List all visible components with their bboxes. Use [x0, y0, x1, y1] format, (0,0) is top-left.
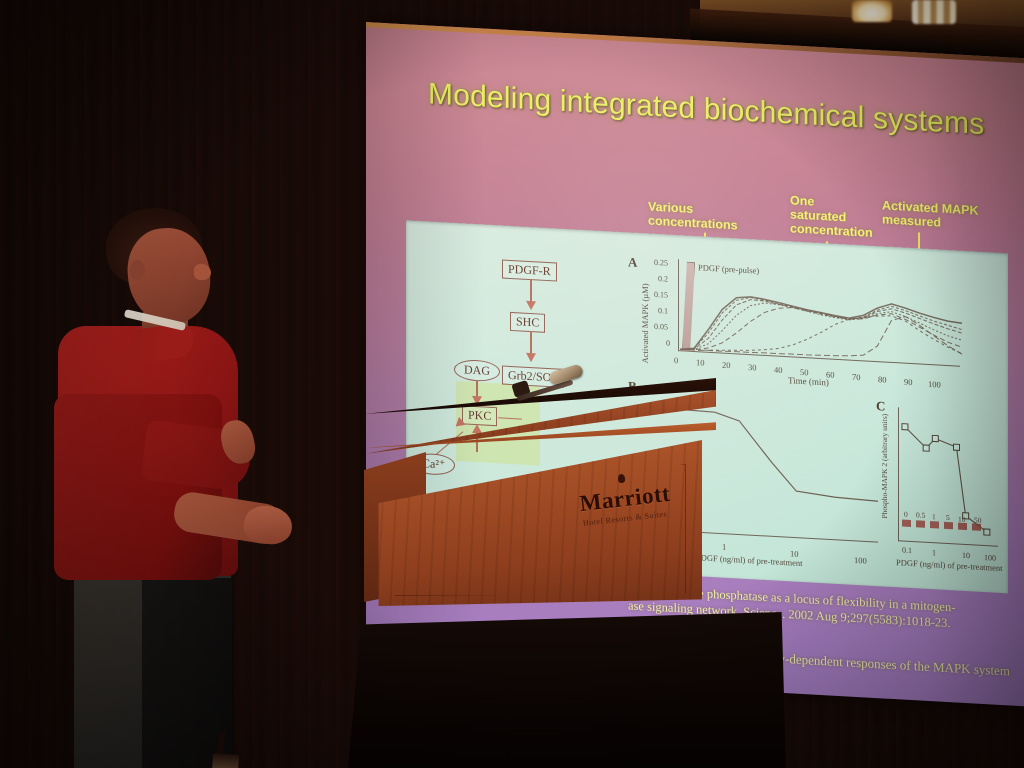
speaker-ear: [130, 260, 145, 280]
slide-title: Modeling integrated biochemical systems: [428, 77, 988, 142]
panel-a-ytick: 0.1: [658, 306, 668, 316]
panel-a-xtick: 40: [774, 364, 783, 374]
annotation-activated-mapk-measured: Activated MAPK measured: [882, 198, 998, 232]
panel-a-xtick: 80: [878, 374, 887, 384]
pathway-node-shc: SHC: [510, 312, 545, 333]
panel-a-ylabel: Activated MAPK (µM): [640, 283, 650, 364]
speaker: [46, 198, 276, 768]
panel-a-ytick: 0: [666, 339, 670, 348]
ceiling-light-icon: [912, 0, 956, 24]
panel-c-blot-label: 0.5: [916, 510, 925, 520]
panel-a-xtick: 20: [722, 360, 731, 370]
panel-c-blot-label: 0: [904, 510, 908, 519]
panel-a-xtick: 0: [674, 355, 678, 365]
panel-a-xtick: 30: [748, 362, 757, 372]
panel-c-xtick: 0.1: [902, 545, 912, 555]
panel-b-xtick: 1: [722, 542, 726, 552]
speaker-shirt-lower: [54, 394, 222, 580]
arrow-down-icon: [526, 353, 536, 363]
panel-a-ytick: 0.25: [654, 258, 668, 268]
panel-b-xtick: 100: [854, 555, 867, 566]
panel-a-ytick: 0.2: [658, 274, 668, 284]
panel-a-xtick: 70: [852, 372, 861, 382]
panel-a-ytick: 0.05: [654, 322, 668, 332]
panel-a-xtick: 100: [928, 379, 941, 390]
annotation-various-concentrations: Various concentrations: [648, 200, 758, 234]
panel-c-letter: C: [876, 398, 885, 415]
panel-c-xtick: 10: [962, 551, 970, 560]
panel-a-ytick: 0.15: [654, 290, 668, 300]
panel-c-blot-label: 5: [946, 513, 950, 522]
panel-c-xtick: 1: [932, 548, 936, 557]
panel-a-xtick: 10: [696, 357, 705, 367]
speaker-name-badge: [211, 753, 239, 768]
podium: Marriott Hotel Resorts & Suites: [364, 368, 716, 630]
table-skirt: [348, 612, 786, 768]
panel-a-letter: A: [628, 254, 637, 271]
panel-c-ylabel: Phospho-MAPK 2 (arbitrary units): [880, 413, 889, 518]
panel-a-xlabel: Time (min): [788, 375, 829, 387]
panel-c-blot-label: 1: [932, 512, 936, 521]
marriott-mark-icon: [618, 474, 626, 484]
slide-footer: History-dependent responses of the MAPK …: [746, 649, 1010, 680]
conference-photo: Modeling integrated biochemical systems …: [0, 0, 1024, 768]
panel-a-xtick: 90: [904, 377, 913, 387]
ceiling-light-icon: [852, 0, 892, 22]
panel-a-plot: [676, 257, 966, 369]
arrow-down-icon: [526, 301, 536, 311]
speaker-nose: [194, 264, 211, 280]
